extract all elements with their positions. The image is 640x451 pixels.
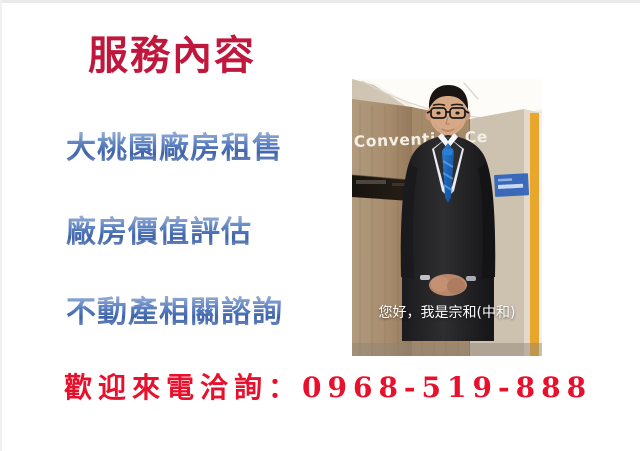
contact-phone-line: 歡迎來電洽詢：0968-519-888 — [64, 370, 592, 406]
service-item-3: 不動產相關諮詢 — [66, 294, 283, 332]
photo-caption: 您好，我是宗和(中和) — [352, 303, 542, 323]
portrait-photo: Convention Ce — [352, 79, 542, 356]
service-item-1: 大桃園廠房租售 — [66, 130, 283, 168]
service-item-2: 廠房價值評估 — [66, 214, 252, 252]
page-title: 服務內容 — [88, 32, 256, 80]
slide-canvas: 服務內容 大桃園廠房租售 廠房價值評估 不動產相關諮詢 — [0, 0, 640, 451]
